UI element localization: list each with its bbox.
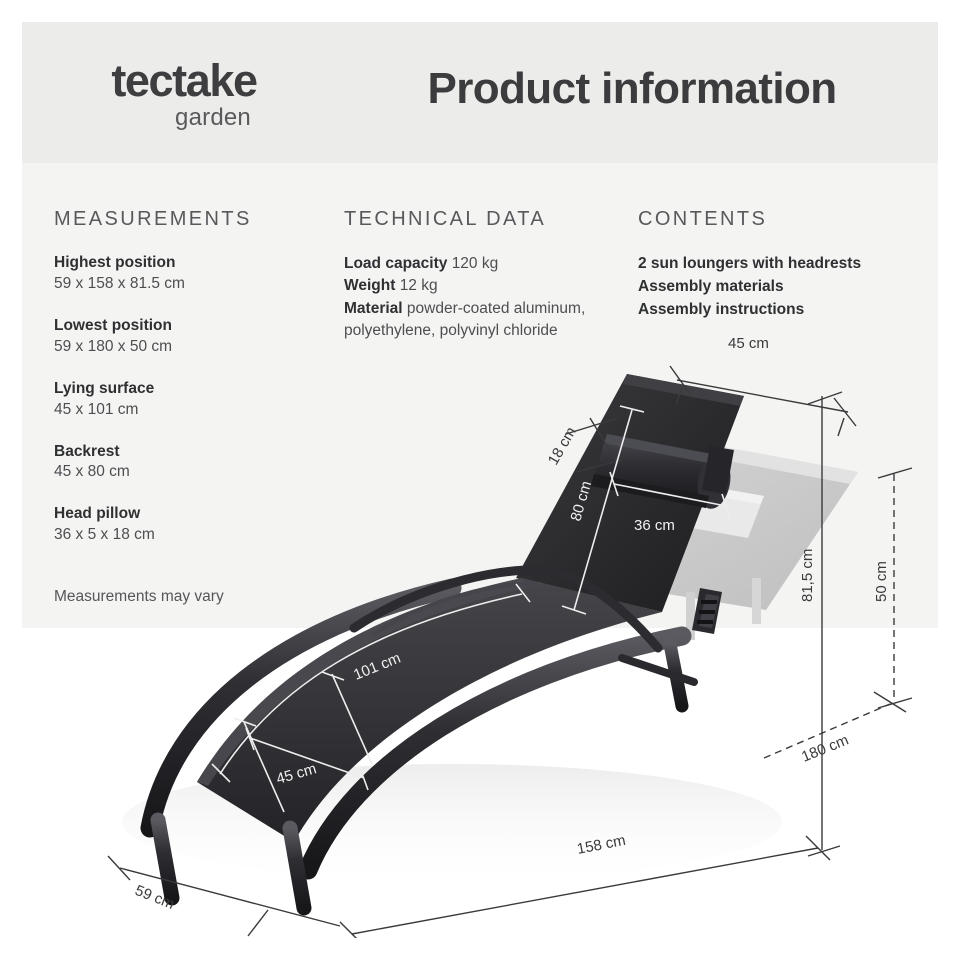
measurement-label: Highest position — [54, 253, 334, 274]
brand-sub: garden — [132, 106, 294, 130]
measurement-label: Backrest — [54, 442, 334, 463]
measurement-label: Head pillow — [54, 504, 334, 525]
technical-value: 12 kg — [400, 277, 438, 294]
dimension-label-lying-surface-length: 101 cm — [351, 650, 403, 684]
measurement-value: 36 x 5 x 18 cm — [54, 525, 334, 546]
leg-rear — [670, 644, 682, 706]
measurement-value: 59 x 180 x 50 cm — [54, 337, 334, 358]
measurements-heading: MEASUREMENTS — [54, 208, 334, 231]
dimension-total-length: 158 cm — [340, 832, 830, 938]
technical-row: Weight 12 kg — [344, 275, 634, 297]
measurement-value: 59 x 158 x 81.5 cm — [54, 274, 334, 295]
info-panel: MEASUREMENTS Highest position 59 x 158 x… — [22, 163, 938, 628]
support-strut — [622, 658, 694, 682]
technical-label: Weight — [344, 277, 395, 294]
measurement-item: Highest position 59 x 158 x 81.5 cm — [54, 253, 334, 295]
dimension-label-total-length: 158 cm — [576, 832, 628, 858]
measurement-label: Lowest position — [54, 316, 334, 337]
product-info-sheet: tectake garden Product information MEASU… — [22, 22, 938, 938]
measurement-value: 45 x 101 cm — [54, 400, 334, 421]
dimension-lying-surface-width: 45 cm — [234, 672, 372, 812]
dimension-lowest-length: 180 cm — [764, 692, 906, 766]
measurements-column: MEASUREMENTS Highest position 59 x 158 x… — [54, 163, 334, 606]
measurements-note: Measurements may vary — [54, 588, 334, 606]
leg-front-right — [290, 828, 304, 908]
measurement-item: Lowest position 59 x 180 x 50 cm — [54, 316, 334, 358]
dimension-label-total-width: 59 cm — [133, 882, 177, 913]
contents-column: CONTENTS 2 sun loungers with headrests A… — [638, 163, 928, 321]
measurement-value: 45 x 80 cm — [54, 462, 334, 483]
contents-item: 2 sun loungers with headrests — [638, 253, 928, 276]
brand-logo: tectake garden — [74, 58, 294, 130]
technical-label: Material — [344, 300, 403, 317]
page-title: Product information — [352, 64, 912, 114]
technical-label: Load capacity — [344, 255, 447, 272]
technical-heading: TECHNICAL DATA — [344, 208, 634, 231]
technical-row: Material powder-coated aluminum, polyeth… — [344, 298, 634, 343]
leg-front-left — [158, 820, 172, 898]
floor-shadow — [122, 764, 782, 880]
dimension-total-width: 59 cm — [108, 856, 340, 936]
dimension-label-lying-surface-width: 45 cm — [274, 760, 318, 788]
technical-row: Load capacity 120 kg — [344, 253, 634, 275]
contents-item: Assembly materials — [638, 276, 928, 299]
measurement-item: Backrest 45 x 80 cm — [54, 442, 334, 484]
technical-column: TECHNICAL DATA Load capacity 120 kg Weig… — [344, 163, 634, 343]
measurement-item: Lying surface 45 x 101 cm — [54, 379, 334, 421]
measurement-label: Lying surface — [54, 379, 334, 400]
contents-item: Assembly instructions — [638, 299, 928, 322]
brand-name: tectake — [74, 58, 294, 103]
frame-tube-rear — [308, 636, 682, 870]
technical-value: 120 kg — [452, 255, 499, 272]
measurement-item: Head pillow 36 x 5 x 18 cm — [54, 504, 334, 546]
header-band: tectake garden Product information — [22, 22, 938, 163]
dimension-label-lowest-length: 180 cm — [799, 732, 851, 766]
contents-heading: CONTENTS — [638, 208, 928, 231]
